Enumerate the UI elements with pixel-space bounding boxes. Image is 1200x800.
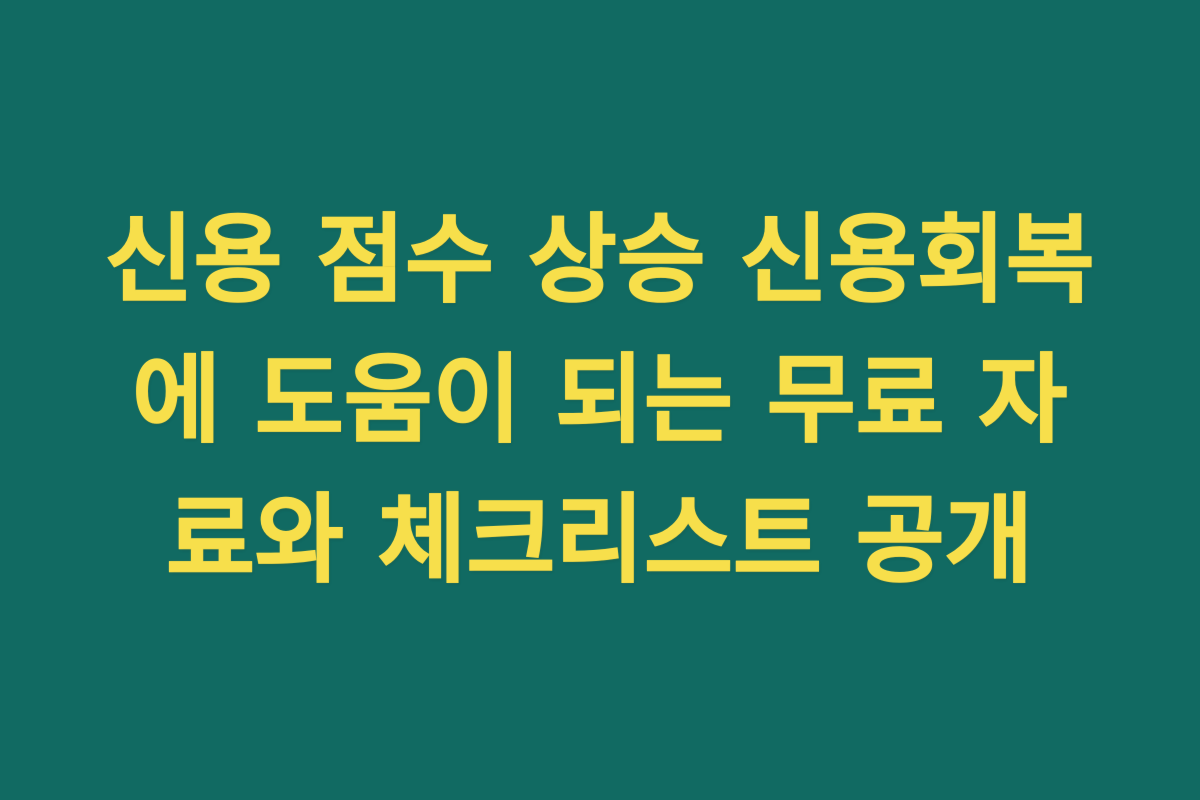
headline-block: 신용 점수 상승 신용회복 에 도움이 되는 무료 자 료와 체크리스트 공개 [55,190,1145,610]
headline-line-3: 료와 체크리스트 공개 [65,470,1135,610]
banner-card: 신용 점수 상승 신용회복 에 도움이 되는 무료 자 료와 체크리스트 공개 [0,0,1200,800]
headline-line-1: 신용 점수 상승 신용회복 [65,190,1135,330]
page-title: 신용 점수 상승 신용회복 에 도움이 되는 무료 자 료와 체크리스트 공개 [65,190,1135,610]
headline-line-2: 에 도움이 되는 무료 자 [65,330,1135,470]
